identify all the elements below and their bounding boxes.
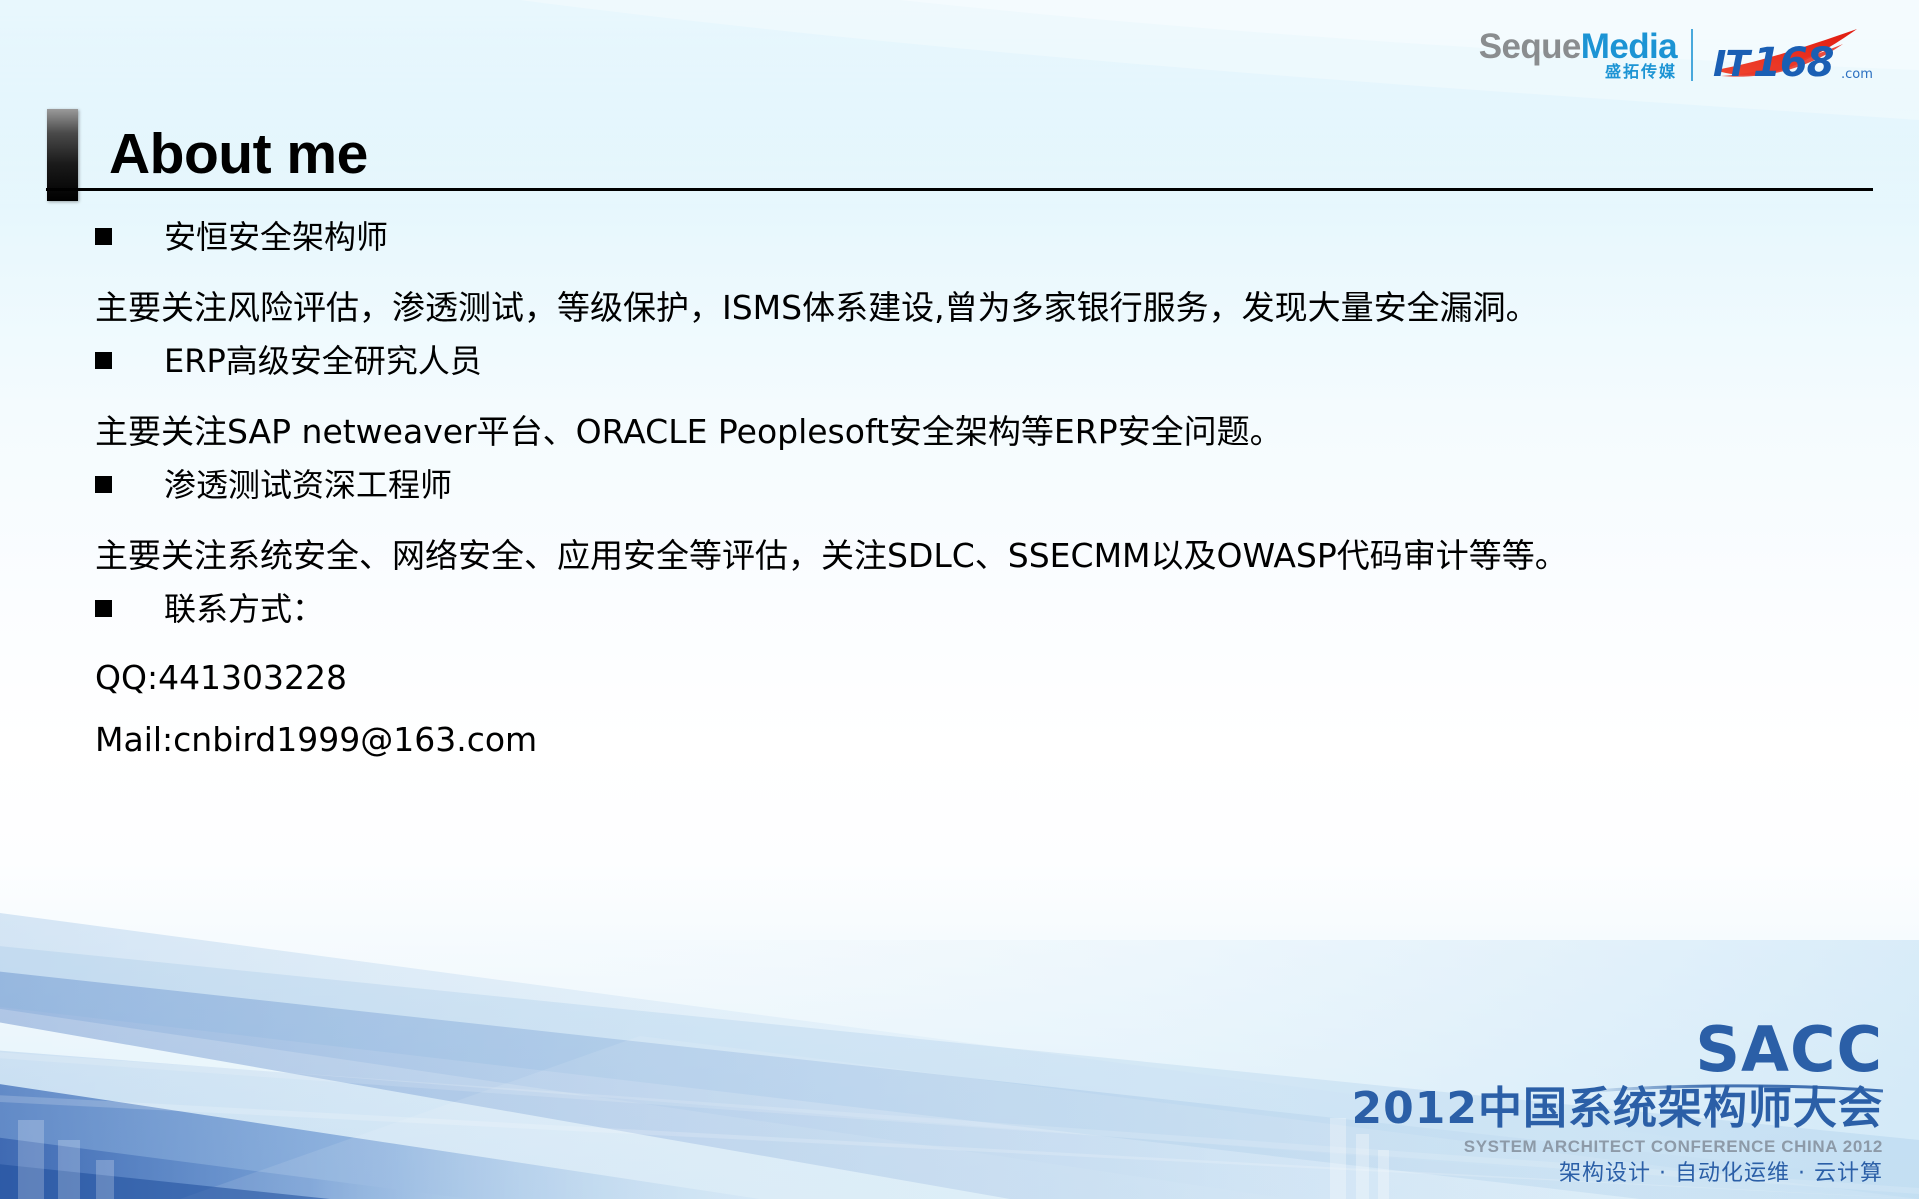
- sequemedia-wordmark: SequeMedia: [1479, 29, 1677, 64]
- it168-logo: IT 168 .com: [1707, 26, 1891, 84]
- conference-title-cn: 2012中国系统架构师大会: [1352, 1087, 1883, 1131]
- list-item: ERP高级安全研究人员: [0, 336, 1919, 398]
- contact-qq: QQ:441303228: [0, 646, 1919, 708]
- header-logo-group: SequeMedia 盛拓传媒 IT 168 .com: [1479, 26, 1891, 84]
- sacc-logo-text: SACC: [1583, 1019, 1883, 1081]
- title-accent-bar: [47, 109, 78, 201]
- svg-text:.com: .com: [1841, 67, 1873, 82]
- conference-title-en: SYSTEM ARCHITECT CONFERENCE CHINA 2012: [1352, 1138, 1883, 1155]
- sequemedia-logo: SequeMedia 盛拓传媒: [1479, 29, 1677, 81]
- paragraph-text: 主要关注风险评估，渗透测试，等级保护，ISMS体系建设,曾为多家银行服务，发现大…: [0, 274, 1919, 336]
- paragraph-text: 主要关注系统安全、网络安全、应用安全等评估，关注SDLC、SSECMM以及OWA…: [0, 522, 1919, 584]
- slide-content: 安恒安全架构师 主要关注风险评估，渗透测试，等级保护，ISMS体系建设,曾为多家…: [0, 212, 1919, 770]
- square-bullet-icon: [95, 228, 112, 245]
- list-item: 安恒安全架构师: [0, 212, 1919, 274]
- square-bullet-icon: [95, 476, 112, 493]
- svg-text:168: 168: [1753, 40, 1834, 84]
- sequemedia-word-seque: Seque: [1479, 27, 1581, 66]
- square-bullet-icon: [95, 352, 112, 369]
- paragraph-text: 主要关注SAP netweaver平台、ORACLE Peoplesoft安全架…: [0, 398, 1919, 460]
- sequemedia-word-media: Media: [1581, 27, 1677, 66]
- svg-text:IT: IT: [1713, 44, 1752, 84]
- contact-mail: Mail:cnbird1999@163.com: [0, 708, 1919, 770]
- bullet-label: 联系方式：: [164, 584, 324, 630]
- page-title: About me: [109, 126, 368, 183]
- square-bullet-icon: [95, 600, 112, 617]
- logo-separator: [1691, 29, 1693, 81]
- slide-canvas: SequeMedia 盛拓传媒 IT 168 .com: [0, 0, 1919, 1199]
- title-divider: [46, 188, 1873, 191]
- bullet-label: ERP高级安全研究人员: [164, 336, 482, 382]
- list-item: 联系方式：: [0, 584, 1919, 646]
- bullet-label: 安恒安全架构师: [164, 212, 388, 258]
- sequemedia-chinese-name: 盛拓传媒: [1605, 65, 1677, 81]
- it168-logo-graphic: IT 168 .com: [1707, 26, 1891, 84]
- page-title-row: About me: [47, 88, 368, 221]
- conference-tagline: 架构设计 · 自动化运维 · 云计算: [1352, 1163, 1883, 1185]
- footer-branding: SACC 2012中国系统架构师大会 SYSTEM ARCHITECT CONF…: [1352, 1019, 1883, 1185]
- bullet-label: 渗透测试资深工程师: [164, 460, 452, 506]
- list-item: 渗透测试资深工程师: [0, 460, 1919, 522]
- sacc-logo: SACC: [1583, 1019, 1883, 1081]
